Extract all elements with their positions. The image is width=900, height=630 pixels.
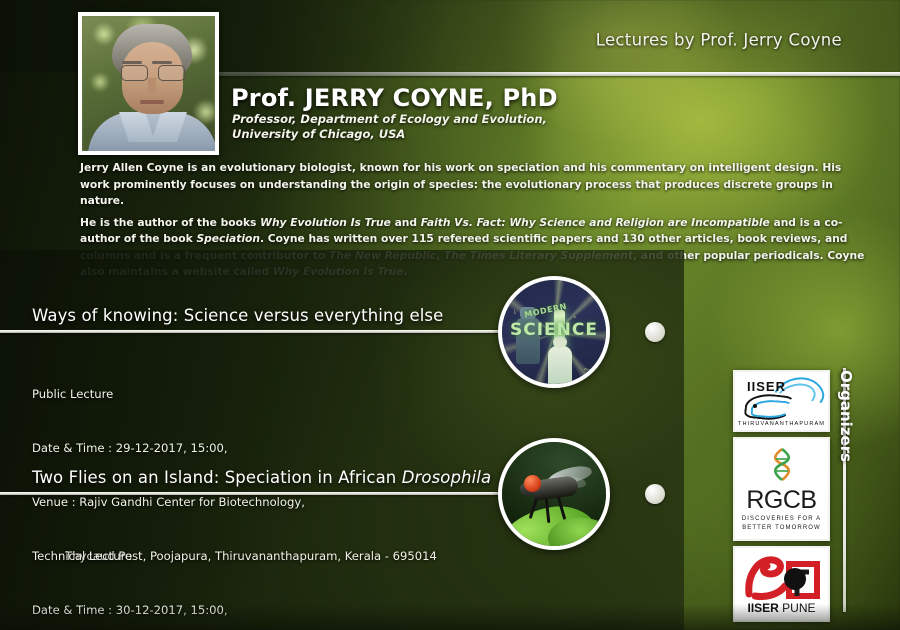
rgcb-dna-icon [767,447,797,483]
lecture-1-connector-dot [645,322,665,342]
lecture-1-datetime: Date & Time : 29-12-2017, 15:00, [32,439,437,457]
bottom-fade [0,604,900,630]
portrait-nose [148,78,156,93]
organizer-logo-rgcb[interactable]: RGCB DISCOVERIES FOR A BETTER TOMORROW [733,437,830,541]
portrait-brow-left [122,61,142,64]
page-title: Lectures by Prof. Jerry Coyne [596,31,842,50]
avatar [78,12,219,155]
fly-compound-eye [524,475,541,492]
organizers-label: Organizers [837,370,855,462]
lecture-2-title: Two Flies on an Island: Speciation in Af… [32,468,491,487]
rgcb-wordmark: RGCB [735,486,828,515]
lecture-1-venue-line1: Venue : Rajiv Gandhi Center for Biotechn… [32,493,437,511]
speaker-affiliation-line2: University of Chicago, USA [232,127,547,142]
iiser-tvm-dot-icon [753,404,757,408]
lecture-2-media [498,438,610,550]
lecture-2-type: Technical Lecture [32,547,490,565]
lecture-1-media: MODERN SCIENCE [498,276,610,388]
lecture-2-connector-dot [645,484,665,504]
organizer-logo-iiser-tvm[interactable]: IISER THIRUVANANTHAPURAM [733,370,830,432]
bio-paragraph-1: Jerry Allen Coyne is an evolutionary bio… [80,160,866,210]
scientist-icon [548,346,572,388]
poster-canvas: Lectures by Prof. Jerry Coyne Prof. JERR… [0,0,900,630]
speaker-name: Prof. JERRY COYNE, PhD [231,84,558,112]
science-poster-title: SCIENCE [502,320,606,340]
portrait-mouth [140,100,164,104]
lecture-1-type: Public Lecture [32,385,437,403]
iiser-pune-emblem-icon [745,554,823,600]
iiser-tvm-wordmark: IISER [747,379,786,394]
speaker-affiliation-line1: Professor, Department of Ecology and Evo… [232,112,547,127]
rgcb-tagline: DISCOVERIES FOR A BETTER TOMORROW [735,515,828,532]
portrait-brow-right [152,61,172,64]
lecture-1-title: Ways of knowing: Science versus everythi… [32,306,443,325]
iiser-tvm-campus-name: THIRUVANANTHAPURAM [735,421,828,427]
speaker-affiliation: Professor, Department of Ecology and Evo… [232,112,547,142]
